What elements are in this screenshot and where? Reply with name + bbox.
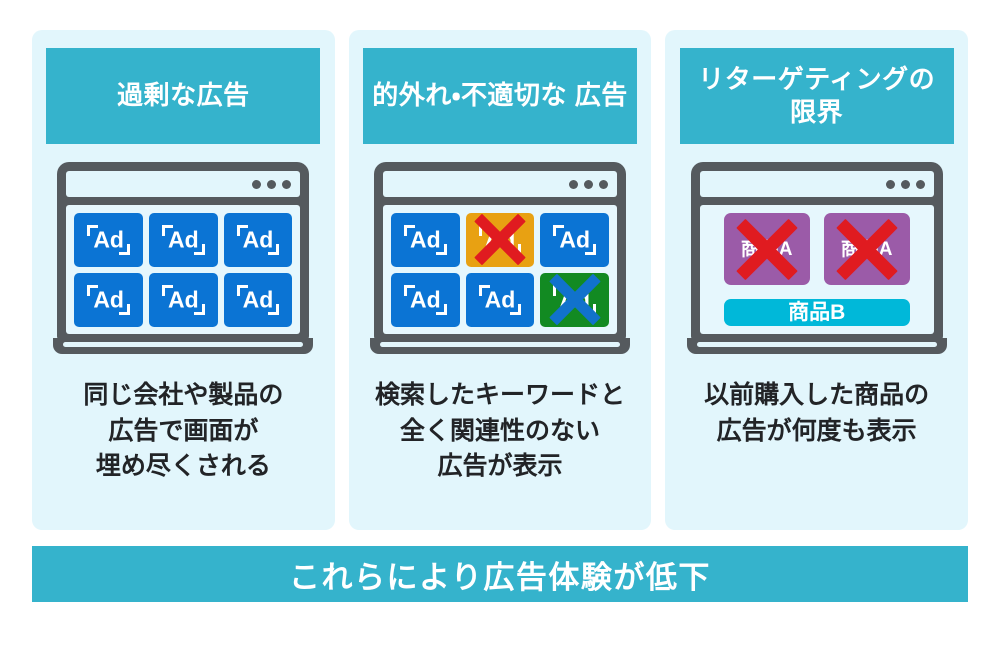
ad-tile-blocked: Ad [466,213,535,267]
ad-tile-row: Ad Ad Ad [74,273,292,327]
ad-tile: Ad [391,213,460,267]
window-dot-icon [252,180,261,189]
panel-retargeting-limits: リターゲティングの 限界 商品A [665,30,968,530]
browser-mock-irrelevant-ads: Ad Ad Ad [374,162,626,362]
summary-banner-text: これらにより広告体験が低下 [289,552,711,597]
summary-banner: これらにより広告体験が低下 [32,546,968,602]
browser-titlebar [66,171,300,197]
ad-tile-row: Ad Ad Ad [391,273,609,327]
x-cross-icon [824,213,910,285]
ad-tile: Ad [149,273,218,327]
browser-screen: 商品A 商品A 商品B [700,205,934,334]
window-dot-icon [267,180,276,189]
browser-titlebar [383,171,617,197]
laptop-base [53,338,313,354]
infographic-root: 過剰な広告 Ad [0,0,1000,648]
product-tile-row: 商品A 商品A [708,213,926,285]
ad-tile-label: Ad [93,288,124,311]
browser-frame: Ad Ad Ad [57,162,309,342]
ad-tile-label: Ad [559,228,590,251]
product-tile-wide: 商品B [724,299,910,326]
ad-tile: Ad [466,273,535,327]
product-tile-wide-label: 商品B [788,302,845,323]
x-cross-icon [466,213,535,267]
product-tile-purchased: 商品A [824,213,910,285]
ad-tile-label: Ad [485,288,516,311]
window-dot-icon [569,180,578,189]
ad-tile-label: Ad [243,228,274,251]
ad-tile-row: Ad Ad Ad [391,213,609,267]
panel-caption-irrelevant-ads: 検索したキーワードと 全く関連性のない 広告が表示 [360,378,640,485]
ad-tile-label: Ad [93,228,124,251]
ad-tile: Ad [74,213,143,267]
panel-caption-retargeting-limits: 以前購入した商品の 広告が何度も表示 [677,378,957,449]
window-dot-icon [282,180,291,189]
ad-tile-label: Ad [168,228,199,251]
panel-header-irrelevant-ads: 的外れ・不適切な 広告 [363,48,637,144]
ad-tile-row: Ad Ad Ad [74,213,292,267]
x-cross-icon [540,273,609,327]
panel-header-excessive-ads: 過剰な広告 [46,48,320,144]
panel-header-retargeting-limits: リターゲティングの 限界 [680,48,954,144]
ad-tile-blocked: Ad [540,273,609,327]
browser-screen: Ad Ad Ad [66,205,300,334]
product-tile-purchased: 商品A [724,213,810,285]
ad-tile: Ad [149,213,218,267]
ad-tile: Ad [224,273,293,327]
browser-frame: Ad Ad Ad [374,162,626,342]
window-dot-icon [916,180,925,189]
browser-screen: Ad Ad Ad [383,205,617,334]
ad-tile: Ad [224,213,293,267]
ad-tile: Ad [540,213,609,267]
x-cross-icon [724,213,810,285]
laptop-base [370,338,630,354]
panel-row: 過剰な広告 Ad [32,30,968,530]
ad-tile-label: Ad [410,228,441,251]
window-dot-icon [901,180,910,189]
panel-irrelevant-ads: 的外れ・不適切な 広告 Ad [349,30,652,530]
window-dot-icon [886,180,895,189]
ad-tile-label: Ad [168,288,199,311]
ad-tile-label: Ad [243,288,274,311]
window-dot-icon [599,180,608,189]
browser-mock-retargeting: 商品A 商品A 商品B [691,162,943,362]
ad-tile: Ad [74,273,143,327]
panel-caption-excessive-ads: 同じ会社や製品の 広告で画面が 埋め尽くされる [43,378,323,485]
ad-tile-label: Ad [410,288,441,311]
browser-titlebar [700,171,934,197]
laptop-base [687,338,947,354]
window-dot-icon [584,180,593,189]
browser-frame: 商品A 商品A 商品B [691,162,943,342]
ad-tile: Ad [391,273,460,327]
panel-excessive-ads: 過剰な広告 Ad [32,30,335,530]
browser-mock-excessive-ads: Ad Ad Ad [57,162,309,362]
